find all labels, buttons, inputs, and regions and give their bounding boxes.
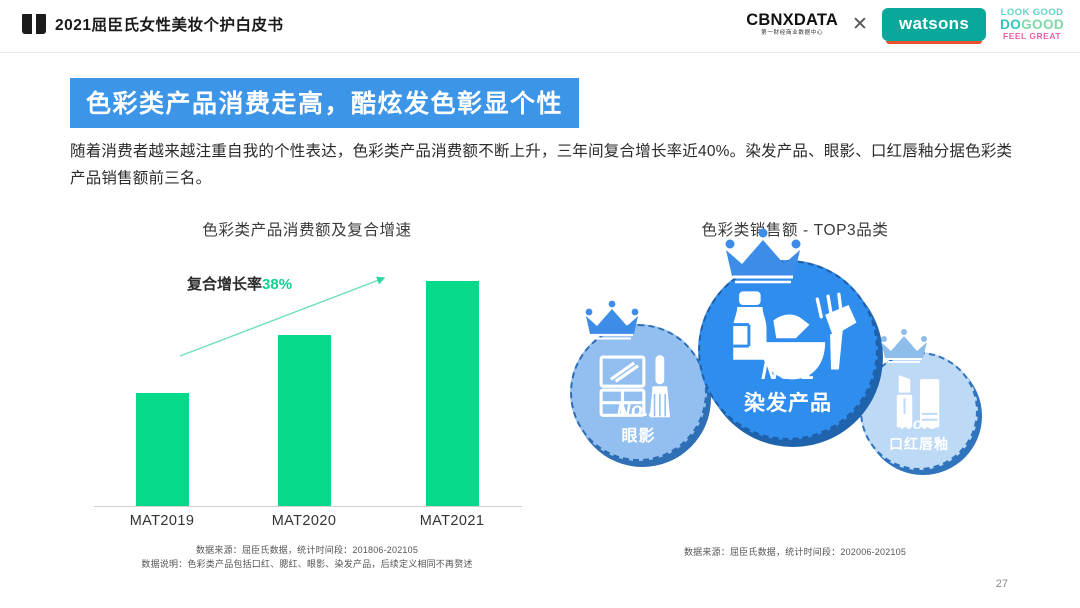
bar-chart-panel: 色彩类产品消费额及复合增速 复合增长率38% MAT2019 MAT2020 M…	[72, 218, 542, 573]
lipstick-icon	[862, 354, 976, 468]
bubble-group: No.2 眼影	[560, 256, 1030, 546]
lookgood-line2: DOGOOD	[1000, 18, 1064, 32]
xtick-label-2: MAT2021	[397, 513, 507, 529]
lookgood-line2-do: DO	[1000, 17, 1021, 32]
book-icon	[22, 14, 46, 34]
left-footnote-note: 数据说明：色彩类产品包括口红、腮红、眼影、染发产品，后续定义相同不再赘述	[72, 557, 542, 571]
brand-title: 2021屈臣氏女性美妆个护白皮书	[55, 13, 283, 35]
cross-icon: ✕	[852, 13, 868, 36]
cbndata-subtitle: 第一财经商业数据中心	[746, 31, 838, 37]
cbndata-wordmark-b: DATA	[794, 11, 838, 29]
bar-mat2021	[426, 281, 479, 506]
lookgood-dogood-logo: LOOK GOOD DOGOOD FEEL GREAT	[1000, 8, 1064, 40]
cbndata-wordmark-x: X	[783, 11, 794, 29]
cbndata-wordmark-a: CBN	[746, 11, 782, 29]
xtick-label-0: MAT2019	[107, 513, 217, 529]
x-axis-line	[94, 506, 522, 507]
body-paragraph: 随着消费者越来越注重自我的个性表达，色彩类产品消费额不断上升，三年间复合增长率近…	[70, 138, 1016, 192]
bubble-chart-panel: 色彩类销售额 - TOP3品类	[560, 218, 1030, 573]
right-footnote-source: 数据来源：屈臣氏数据，统计时间段：202006-202105	[560, 545, 1030, 559]
page-header: 2021屈臣氏女性美妆个护白皮书 CBNXDATA 第一财经商业数据中心 ✕ w…	[0, 0, 1080, 53]
page-number: 27	[996, 578, 1008, 590]
left-footnote-source: 数据来源：屈臣氏数据，统计时间段：201806-202105	[72, 543, 542, 557]
hair-dye-icon	[700, 262, 876, 438]
crown-icon-no2	[582, 300, 642, 340]
bubble-no3[interactable]: No.3 口红唇釉	[860, 352, 978, 470]
bubble-no2[interactable]: No.2 眼影	[570, 324, 707, 461]
lookgood-line2-good: GOOD	[1021, 17, 1064, 32]
crown-icon-no3	[878, 328, 930, 364]
bubble-no1[interactable]: No.1 染发产品	[698, 260, 878, 440]
lookgood-line3: FEEL GREAT	[1000, 32, 1064, 41]
brand: 2021屈臣氏女性美妆个护白皮书	[22, 13, 283, 35]
bar-plot-area	[106, 258, 526, 506]
bar-mat2020	[278, 335, 331, 506]
watsons-logo: watsons	[882, 8, 986, 41]
eyeshadow-palette-icon	[572, 326, 705, 459]
section-title-banner: 色彩类产品消费走高，酷炫发色彰显个性	[70, 78, 579, 128]
crown-icon-no1	[720, 228, 806, 284]
xtick-label-1: MAT2020	[249, 513, 359, 529]
bar-mat2019	[136, 393, 189, 506]
cbndata-logo: CBNXDATA 第一财经商业数据中心	[746, 12, 838, 37]
cbndata-wordmark: CBNXDATA	[746, 12, 838, 29]
logo-group: CBNXDATA 第一财经商业数据中心 ✕ watsons LOOK GOOD …	[746, 8, 1064, 41]
